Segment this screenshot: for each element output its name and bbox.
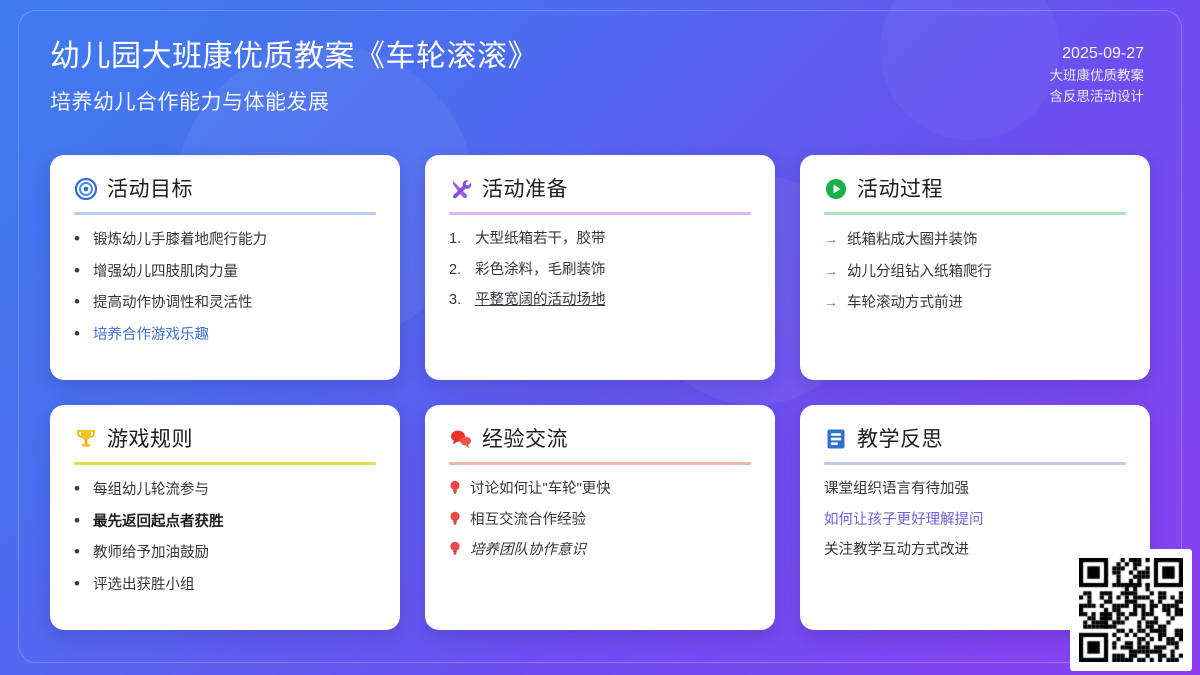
list-marker-number: 3.	[449, 291, 466, 311]
list-marker-dot: •	[74, 512, 84, 529]
list-item: •最先返回起点者获胜	[74, 512, 376, 533]
list-marker-dot: •	[74, 230, 84, 247]
card-header: 游戏规则	[74, 427, 376, 451]
card-item-list: •每组幼儿轮流参与•最先返回起点者获胜•教师给予加油鼓励•评选出获胜小组	[74, 480, 376, 606]
card-item-list: 1.大型纸箱若干，胶带2.彩色涂料，毛刷装饰3.平整宽阔的活动场地	[449, 230, 751, 322]
page-subtitle: 培养幼儿合作能力与体能发展	[50, 86, 538, 116]
list-item-text: 讨论如何让"车轮"更快	[470, 480, 611, 500]
card-title: 教学反思	[857, 429, 943, 450]
card-item-list: •锻炼幼儿手膝着地爬行能力•增强幼儿四肢肌肉力量•提高动作协调性和灵活性•培养合…	[74, 230, 376, 356]
card-title: 游戏规则	[107, 429, 193, 450]
list-item: 培养团队协作意识	[449, 541, 751, 561]
target-icon	[74, 177, 98, 201]
list-marker-dot: •	[74, 480, 84, 497]
list-item-text: 幼儿分组钻入纸箱爬行	[847, 263, 992, 283]
card-header: 活动目标	[74, 177, 376, 201]
list-marker-arrow: →	[824, 293, 838, 312]
list-item: •每组幼儿轮流参与	[74, 480, 376, 501]
card-header: 活动过程	[824, 177, 1126, 201]
list-item-text: 大型纸箱若干，胶带	[475, 230, 606, 250]
list-item-text: 评选出获胜小组	[93, 576, 195, 596]
play-circle-icon	[824, 177, 848, 201]
list-item-text: 每组幼儿轮流参与	[93, 481, 209, 501]
card-underline	[824, 212, 1126, 215]
list-marker-number: 2.	[449, 261, 466, 281]
list-marker-bulb	[449, 480, 461, 498]
speech-balloons-icon	[449, 427, 473, 451]
list-marker-dot: •	[74, 575, 84, 592]
header-meta: 2025-09-27 大班康优质教案 含反思活动设计	[1050, 38, 1145, 108]
card-item-list: →纸箱粘成大圈并装饰→幼儿分组钻入纸箱爬行→车轮滚动方式前进	[824, 230, 1126, 325]
card-title: 活动准备	[482, 179, 568, 200]
card-grid: 活动目标•锻炼幼儿手膝着地爬行能力•增强幼儿四肢肌肉力量•提高动作协调性和灵活性…	[50, 155, 1150, 630]
list-marker-dot: •	[74, 293, 84, 310]
list-item-text: 提高动作协调性和灵活性	[93, 294, 253, 314]
slide-header: 幼儿园大班康优质教案《车轮滚滚》 培养幼儿合作能力与体能发展 2025-09-2…	[0, 0, 1200, 145]
trophy-icon	[74, 427, 98, 451]
list-marker-number: 1.	[449, 230, 466, 250]
card-experience-sharing: 经验交流讨论如何让"车轮"更快相互交流合作经验培养团队协作意识	[425, 405, 775, 630]
list-item: 1.大型纸箱若干，胶带	[449, 230, 751, 250]
list-marker-arrow: →	[824, 262, 838, 281]
list-item-text: 最先返回起点者获胜	[93, 513, 224, 533]
list-item-text: 培养合作游戏乐趣	[93, 326, 209, 346]
card-activity-goals: 活动目标•锻炼幼儿手膝着地爬行能力•增强幼儿四肢肌肉力量•提高动作协调性和灵活性…	[50, 155, 400, 380]
list-item-text: 增强幼儿四肢肌肉力量	[93, 263, 238, 283]
list-item-text: 课堂组织语言有待加强	[824, 480, 969, 500]
list-marker-dot: •	[74, 262, 84, 279]
list-item-text: 关注教学互动方式改进	[824, 541, 969, 561]
list-item: 3.平整宽阔的活动场地	[449, 291, 751, 311]
list-item: 课堂组织语言有待加强	[824, 480, 1126, 500]
list-marker-dot: •	[74, 543, 84, 560]
list-item: •提高动作协调性和灵活性	[74, 293, 376, 314]
card-activity-process: 活动过程→纸箱粘成大圈并装饰→幼儿分组钻入纸箱爬行→车轮滚动方式前进	[800, 155, 1150, 380]
list-item: •教师给予加油鼓励	[74, 543, 376, 564]
list-item: •增强幼儿四肢肌肉力量	[74, 262, 376, 283]
card-underline	[74, 212, 376, 215]
card-title: 活动过程	[857, 179, 943, 200]
list-item-text: 培养团队协作意识	[470, 541, 586, 561]
list-marker-arrow: →	[824, 230, 838, 249]
list-item-text: 车轮滚动方式前进	[847, 294, 963, 314]
list-item: →幼儿分组钻入纸箱爬行	[824, 262, 1126, 283]
list-item: 讨论如何让"车轮"更快	[449, 480, 751, 500]
list-item-text: 如何让孩子更好理解提问	[824, 511, 984, 531]
list-item-text: 纸箱粘成大圈并装饰	[847, 231, 978, 251]
list-marker-bulb	[449, 511, 461, 529]
tools-icon	[449, 177, 473, 201]
card-underline	[449, 462, 751, 465]
list-item-text: 相互交流合作经验	[470, 511, 586, 531]
list-item: →纸箱粘成大圈并装饰	[824, 230, 1126, 251]
list-item: 如何让孩子更好理解提问	[824, 511, 1126, 531]
header-date: 2025-09-27	[1050, 42, 1145, 66]
header-meta-line-2: 含反思活动设计	[1050, 87, 1145, 108]
list-item-text: 彩色涂料，毛刷装饰	[475, 261, 606, 281]
card-game-rules: 游戏规则•每组幼儿轮流参与•最先返回起点者获胜•教师给予加油鼓励•评选出获胜小组	[50, 405, 400, 630]
qr-code-container[interactable]	[1070, 549, 1192, 671]
header-titles: 幼儿园大班康优质教案《车轮滚滚》 培养幼儿合作能力与体能发展	[50, 38, 538, 116]
list-marker-dot: •	[74, 325, 84, 342]
note-list-icon	[824, 427, 848, 451]
list-item: 相互交流合作经验	[449, 511, 751, 531]
list-item-text: 锻炼幼儿手膝着地爬行能力	[93, 231, 267, 251]
list-item: 2.彩色涂料，毛刷装饰	[449, 261, 751, 281]
card-underline	[824, 462, 1126, 465]
card-header: 经验交流	[449, 427, 751, 451]
card-header: 活动准备	[449, 177, 751, 201]
list-item: →车轮滚动方式前进	[824, 293, 1126, 314]
card-activity-preparation: 活动准备1.大型纸箱若干，胶带2.彩色涂料，毛刷装饰3.平整宽阔的活动场地	[425, 155, 775, 380]
list-item-text: 教师给予加油鼓励	[93, 544, 209, 564]
list-marker-bulb	[449, 541, 461, 559]
page-title: 幼儿园大班康优质教案《车轮滚滚》	[50, 38, 538, 76]
list-item: •评选出获胜小组	[74, 575, 376, 596]
card-header: 教学反思	[824, 427, 1126, 451]
card-title: 经验交流	[482, 429, 568, 450]
card-underline	[449, 212, 751, 215]
list-item: •锻炼幼儿手膝着地爬行能力	[74, 230, 376, 251]
list-item-text: 平整宽阔的活动场地	[475, 291, 606, 311]
qr-code[interactable]	[1079, 558, 1183, 662]
card-item-list: 讨论如何让"车轮"更快相互交流合作经验培养团队协作意识	[449, 480, 751, 572]
card-title: 活动目标	[107, 179, 193, 200]
card-underline	[74, 462, 376, 465]
list-item: •培养合作游戏乐趣	[74, 325, 376, 346]
header-meta-line-1: 大班康优质教案	[1050, 66, 1145, 87]
